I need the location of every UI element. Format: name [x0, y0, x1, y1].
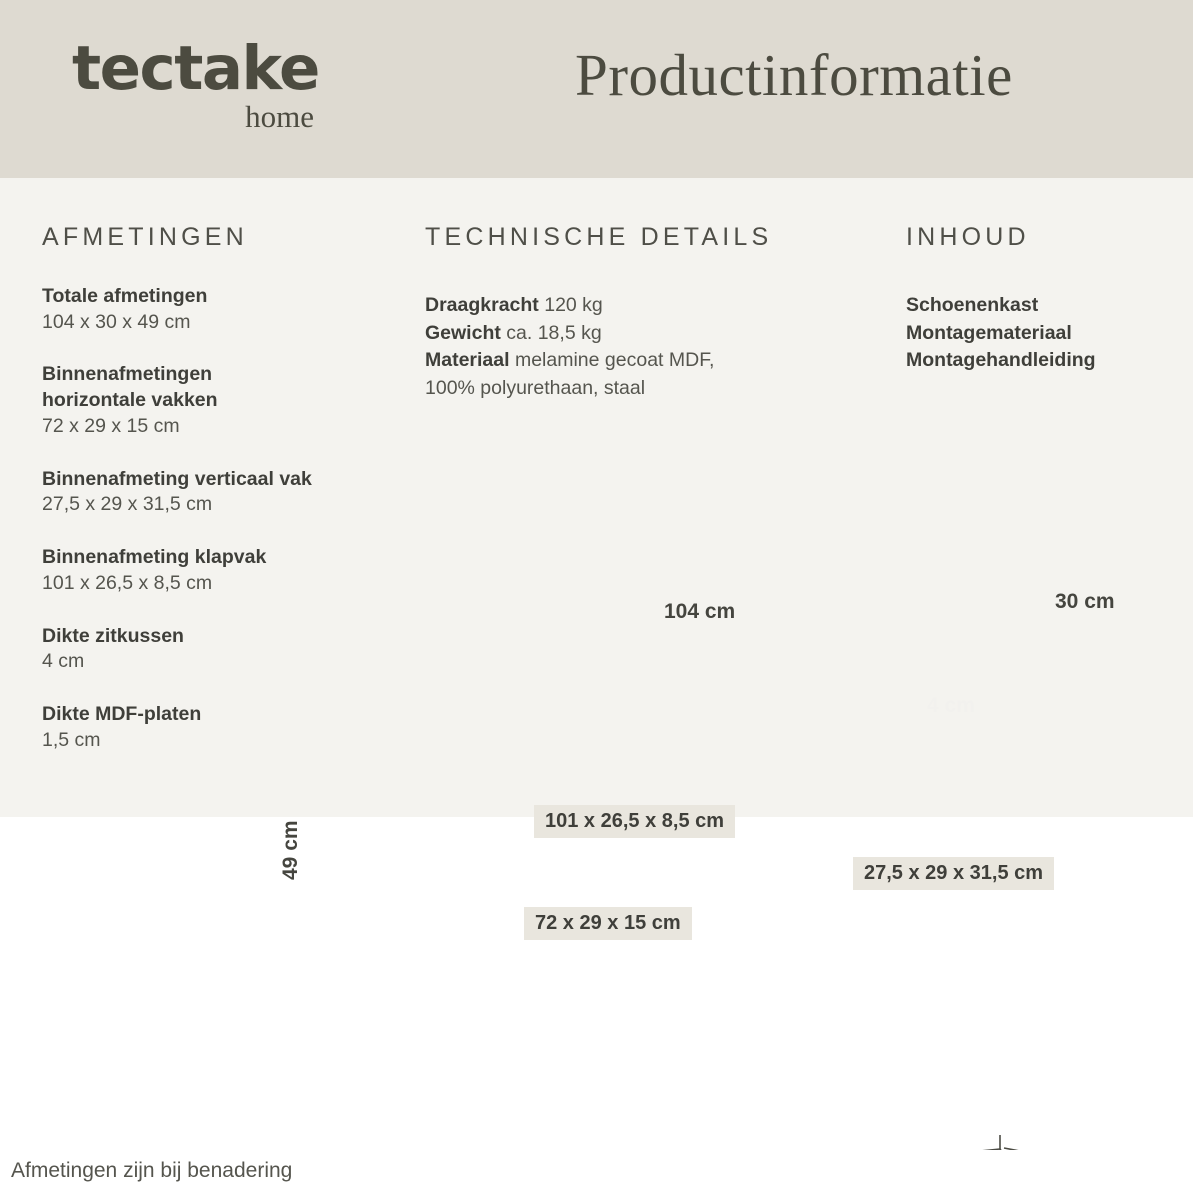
spec-group-total: Totale afmetingen 104 x 30 x 49 cm [42, 284, 412, 335]
spec-label-second-line: horizontale vakken [42, 388, 412, 414]
tech-label: Draagkracht [425, 294, 539, 316]
contents-item: Montagemateriaal [906, 320, 1176, 348]
callout-flip-compartment: 101 x 26,5 x 8,5 cm [534, 805, 735, 838]
tech-value: 100% polyurethaan, staal [425, 377, 645, 399]
spec-label: Totale afmetingen [42, 284, 412, 310]
footer-disclaimer: Afmetingen zijn bij benadering [11, 1160, 292, 1181]
logo-subtitle: home [72, 101, 314, 132]
dimension-label-cushion-thickness: 4 cm [927, 694, 975, 718]
contents-item: Schoenenkast [906, 292, 1176, 320]
tech-line-material-cont: 100% polyurethaan, staal [425, 375, 880, 403]
product-info-sheet: tectake home Productinformatie AFMETINGE… [0, 0, 1193, 1200]
dimension-guides [308, 1135, 1160, 1150]
dimension-label-height: 49 cm [279, 820, 303, 880]
tech-label: Materiaal [425, 349, 510, 371]
spec-value: 104 x 30 x 49 cm [42, 310, 412, 336]
column-technical-details: TECHNISCHE DETAILS Draagkracht 120 kg Ge… [425, 225, 880, 403]
spec-label: Binnenafmeting verticaal vak [42, 467, 412, 493]
callout-vertical-compartment: 27,5 x 29 x 31,5 cm [853, 857, 1054, 890]
column-heading-dimensions: AFMETINGEN [42, 225, 412, 250]
tech-value: 120 kg [544, 294, 603, 316]
column-heading-contents: INHOUD [906, 225, 1176, 250]
spec-value: 27,5 x 29 x 31,5 cm [42, 492, 412, 518]
tech-value: melamine gecoat MDF, [515, 349, 714, 371]
tech-line-weight: Gewicht ca. 18,5 kg [425, 320, 880, 348]
logo-wordmark: tectake [72, 38, 372, 99]
header-band: tectake home Productinformatie [0, 0, 1193, 178]
page-title: Productinformatie [575, 43, 1155, 108]
product-illustration [0, 560, 1193, 1150]
contents-item: Montagehandleiding [906, 347, 1176, 375]
dimension-label-length: 104 cm [664, 601, 735, 622]
tech-line-material: Materiaal melamine gecoat MDF, [425, 347, 880, 375]
tech-value: ca. 18,5 kg [506, 322, 601, 344]
tech-line-load: Draagkracht 120 kg [425, 292, 880, 320]
tech-label: Gewicht [425, 322, 501, 344]
spec-group-inner-vertical: Binnenafmeting verticaal vak 27,5 x 29 x… [42, 467, 412, 518]
column-contents: INHOUD Schoenenkast Montagemateriaal Mon… [906, 225, 1176, 375]
callout-horizontal-compartment: 72 x 29 x 15 cm [524, 907, 692, 940]
spec-label: Binnenafmetingen [42, 362, 412, 388]
brand-logo: tectake home [72, 38, 372, 132]
column-heading-technical: TECHNISCHE DETAILS [425, 225, 880, 250]
dimension-label-depth: 30 cm [1055, 591, 1115, 612]
spec-group-inner-horizontal: Binnenafmetingen horizontale vakken 72 x… [42, 362, 412, 439]
spec-value: 72 x 29 x 15 cm [42, 414, 412, 440]
